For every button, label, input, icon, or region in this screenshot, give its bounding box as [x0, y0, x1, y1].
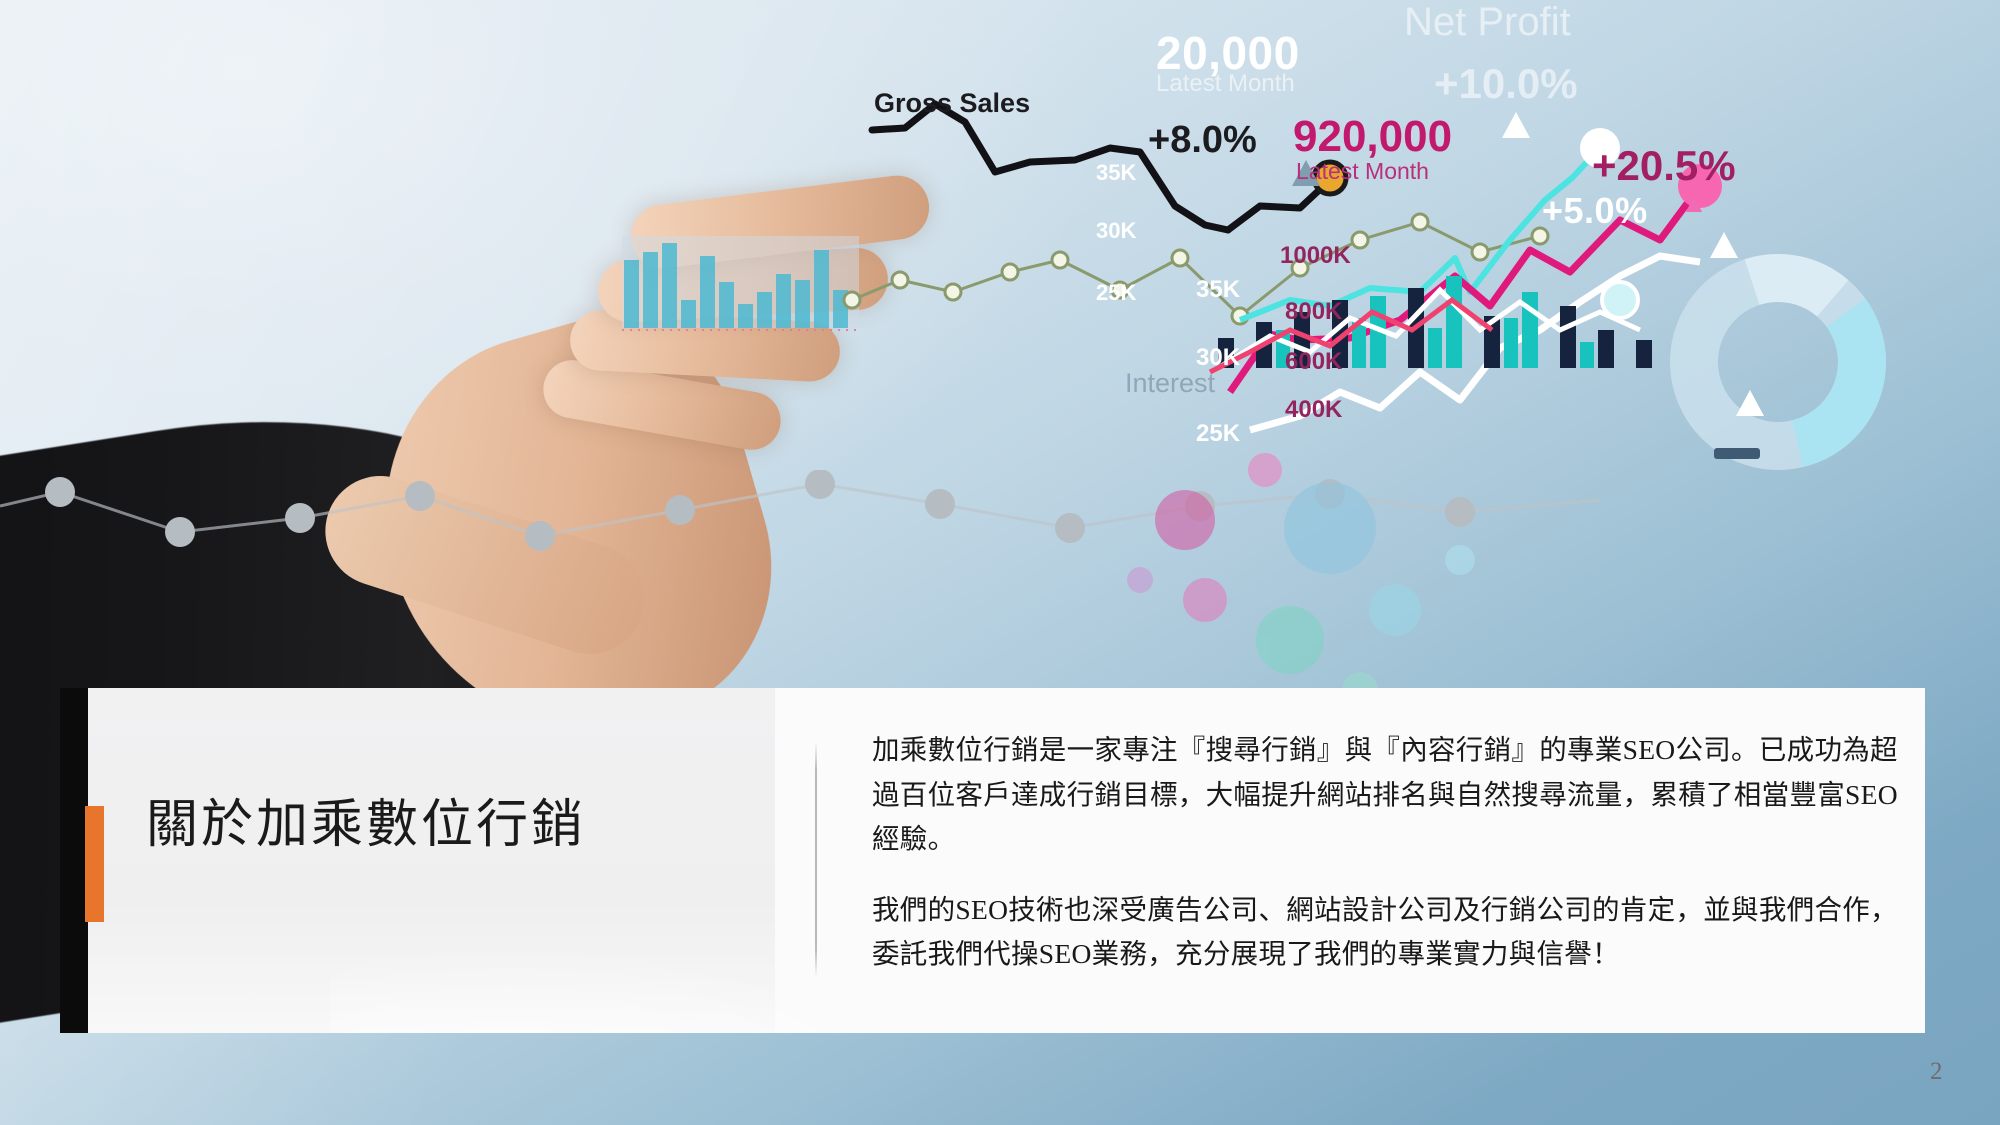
page-number: 2 — [1930, 1058, 1943, 1086]
axis-right-tick-400k: 400K — [1285, 396, 1342, 424]
axis-left-tick-30k: 30K — [1096, 218, 1136, 244]
axis-right-tick-800k: 800K — [1285, 298, 1342, 326]
latest-month-caption-2: Latest Month — [1296, 158, 1429, 185]
axis-left-tick-25k: 25K — [1096, 280, 1136, 306]
panel-left-black-bar — [60, 688, 88, 1033]
latest-month-value-2: 920,000 — [1293, 112, 1452, 162]
teal-bar-chart — [622, 236, 859, 330]
net-profit-label: Net Profit — [1404, 0, 1571, 45]
delta-white-small-label: +5.0% — [1542, 190, 1648, 232]
delta-white-top-label: +10.0% — [1434, 60, 1578, 108]
body-text: 加乘數位行銷是一家專注『搜尋行銷』與『內容行銷』的專業SEO公司。已成功為超過百… — [872, 728, 1917, 977]
orange-accent-bar — [85, 806, 104, 922]
axis-mid-tick-30k: 30K — [1196, 344, 1240, 372]
axis-mid-tick-35k: 35K — [1196, 276, 1240, 304]
axis-right-tick-1000k: 1000K — [1280, 242, 1351, 270]
interest-label: Interest — [1125, 368, 1215, 399]
page-title: 關於加乘數位行銷 — [146, 797, 706, 854]
donut-chart — [1661, 245, 1896, 480]
paragraph-1: 加乘數位行銷是一家專注『搜尋行銷』與『內容行銷』的專業SEO公司。已成功為超過百… — [872, 728, 1917, 862]
paragraph-2: 我們的SEO技術也深受廣告公司、網站設計公司及行銷公司的肯定，並與我們合作，委託… — [872, 888, 1917, 977]
delta-dark-label: +8.0% — [1148, 119, 1257, 162]
axis-mid-tick-25k: 25K — [1196, 420, 1240, 448]
gross-sales-label: Gross Sales — [874, 88, 1030, 119]
latest-month-caption-1: Latest Month — [1156, 70, 1295, 98]
bubble-cluster — [1127, 453, 1475, 708]
slide: Gross Sales Interest Net Profit 20,000 L… — [0, 0, 2000, 1125]
revenue-bar-chart — [1210, 276, 1652, 372]
vertical-divider — [815, 742, 817, 977]
axis-right-tick-600k: 600K — [1285, 348, 1342, 376]
axis-left-tick-35k: 35K — [1096, 160, 1136, 186]
delta-magenta-label: +20.5% — [1592, 142, 1736, 190]
